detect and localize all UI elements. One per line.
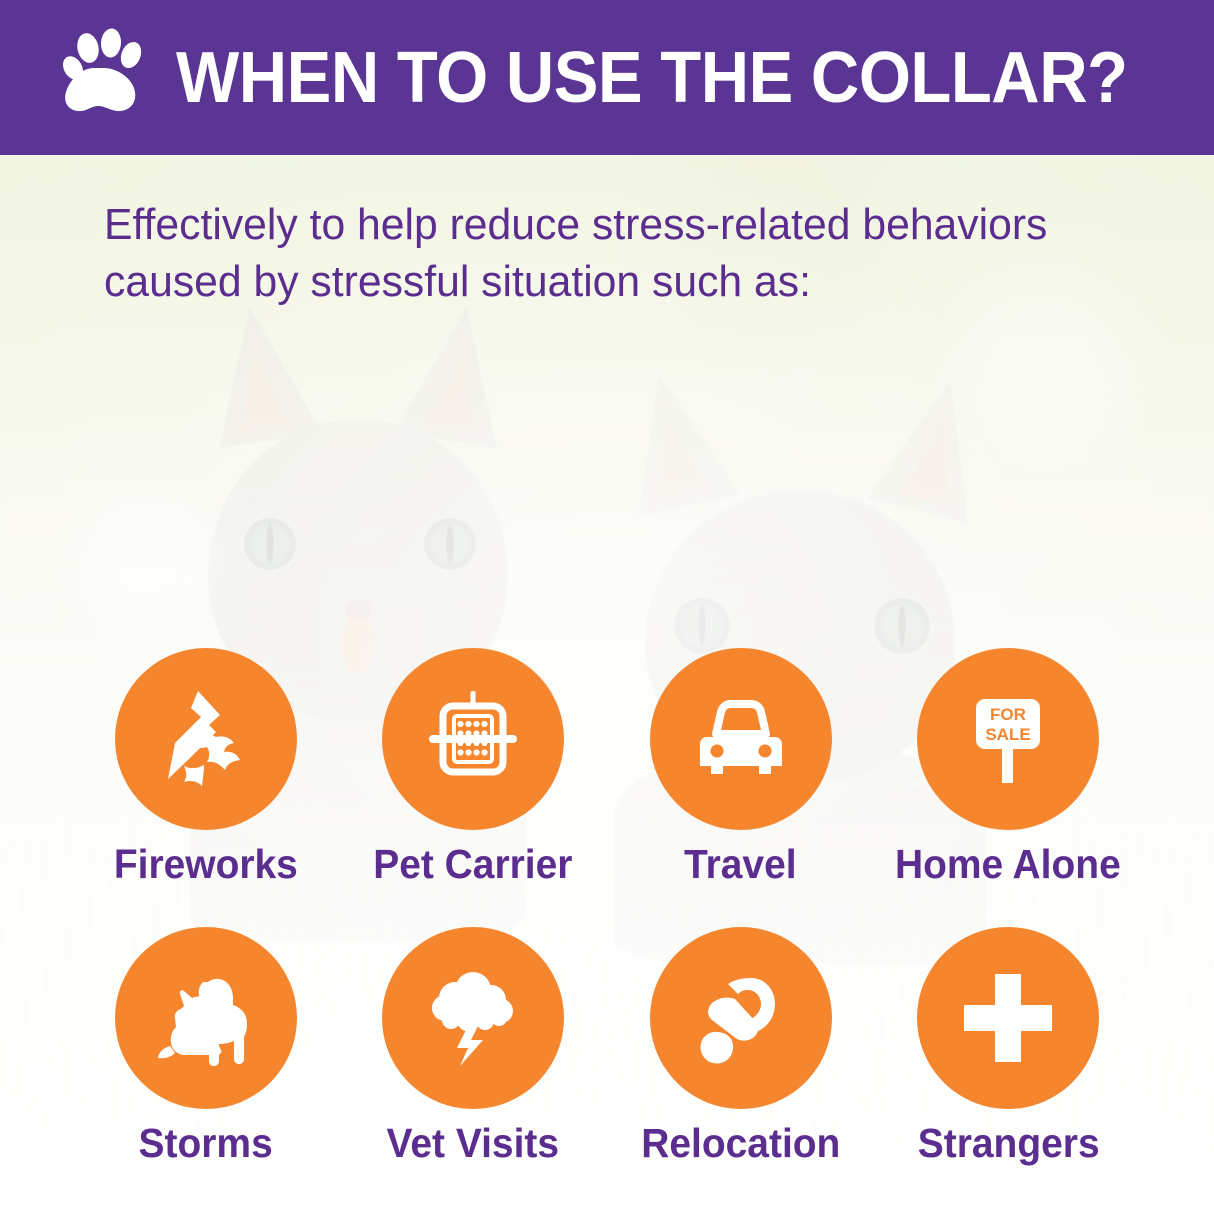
icon-circle[interactable] xyxy=(382,927,564,1109)
icon-circle[interactable] xyxy=(115,927,297,1109)
grid-item-relocation[interactable]: Relocation xyxy=(607,927,875,1166)
icon-circle[interactable]: FOR SALE xyxy=(917,648,1099,830)
grid-item-label: Pet Carrier xyxy=(374,842,573,887)
storm-cloud-lightning-icon xyxy=(413,958,533,1078)
grid-item-vet-visits[interactable]: Vet Visits xyxy=(340,927,608,1166)
grid-item-travel[interactable]: Travel xyxy=(607,648,875,887)
sign-text-sale: SALE xyxy=(986,725,1031,744)
header-bar: WHEN TO USE THE COLLAR? xyxy=(0,0,1214,155)
dog-and-cat-icon xyxy=(146,958,266,1078)
grid-item-label: Relocation xyxy=(641,1121,840,1166)
icon-circle[interactable] xyxy=(650,927,832,1109)
icon-circle[interactable] xyxy=(115,648,297,830)
pacifier-icon xyxy=(681,958,801,1078)
grid-item-storms[interactable]: Storms xyxy=(72,927,340,1166)
grid-item-label: Vet Visits xyxy=(387,1121,559,1166)
icon-circle[interactable] xyxy=(650,648,832,830)
grid-item-label: Travel xyxy=(684,842,797,887)
use-case-grid: Fireworks xyxy=(0,648,1214,1166)
grid-item-label: Storms xyxy=(139,1121,273,1166)
grid-item-strangers[interactable]: Strangers xyxy=(875,927,1143,1166)
firework-rocket-icon xyxy=(146,679,266,799)
pet-carrier-cage-icon xyxy=(413,679,533,799)
for-sale-sign-icon: FOR SALE xyxy=(948,679,1068,799)
subtitle-text: Effectively to help reduce stress-relate… xyxy=(104,196,1132,310)
grid-item-label: Fireworks xyxy=(114,842,298,887)
grid-item-pet-carrier[interactable]: Pet Carrier xyxy=(340,648,608,887)
icon-circle[interactable] xyxy=(917,927,1099,1109)
icon-circle[interactable] xyxy=(382,648,564,830)
grid-item-home-alone[interactable]: FOR SALE Home Alone xyxy=(875,648,1143,887)
page-title: WHEN TO USE THE COLLAR? xyxy=(176,42,1128,114)
paw-print-icon xyxy=(58,28,154,124)
sign-text-for: FOR xyxy=(990,705,1026,724)
medical-cross-icon xyxy=(948,958,1068,1078)
subtitle-line-2: caused by stressful situation such as: xyxy=(104,253,1132,310)
grid-item-label: Strangers xyxy=(917,1121,1099,1166)
poster-root: WHEN TO USE THE COLLAR? Effectively to h… xyxy=(0,0,1214,1214)
grid-item-label: Home Alone xyxy=(895,842,1121,887)
subtitle-line-1: Effectively to help reduce stress-relate… xyxy=(104,196,1132,253)
grid-item-fireworks[interactable]: Fireworks xyxy=(72,648,340,887)
car-icon xyxy=(681,679,801,799)
